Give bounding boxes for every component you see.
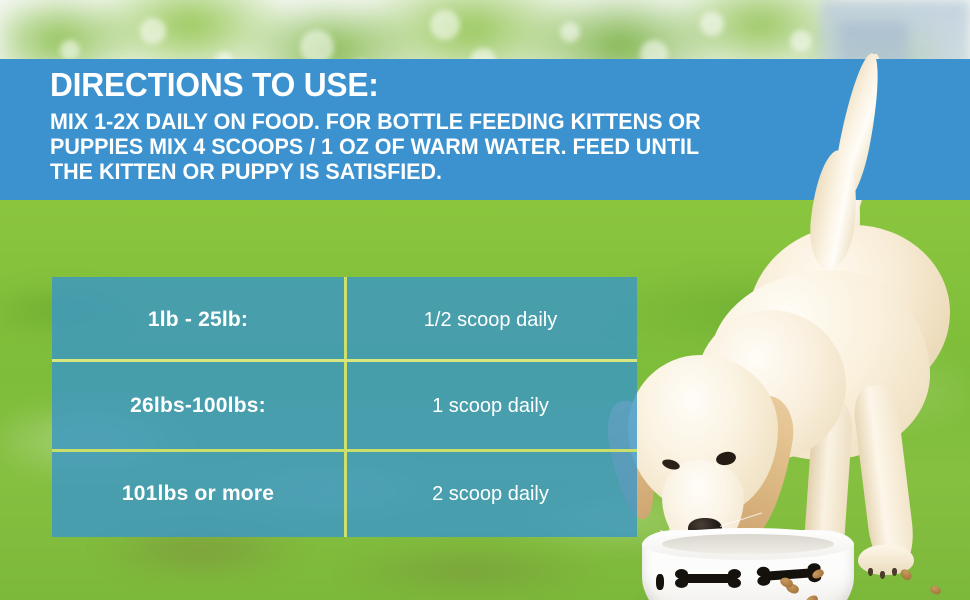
promo-banner-image: DIRECTIONS TO USE: MIX 1-2X DAILY ON FOO… [0, 0, 970, 600]
bokeh-dot [60, 40, 80, 60]
kibble-piece [929, 584, 942, 595]
bokeh-dot [700, 12, 724, 36]
bowl-rim-inner [662, 534, 834, 554]
bokeh-dot [560, 22, 580, 42]
puppy-claw [892, 568, 897, 576]
table-vertical-divider [344, 277, 347, 537]
table-horizontal-divider-2 [52, 449, 637, 452]
puppy-claw [868, 568, 873, 576]
banner-body-line-3: THE KITTEN OR PUPPY IS SATISFIED. [50, 159, 699, 184]
bone-icon [656, 574, 664, 590]
bokeh-dot [430, 10, 460, 40]
banner-body-text: MIX 1-2X DAILY ON FOOD. FOR BOTTLE FEEDI… [50, 109, 699, 184]
table-cell-dose-2: 1 scoop daily [344, 361, 637, 451]
puppy-claw [880, 571, 885, 579]
banner-body-line-2: PUPPIES MIX 4 SCOOPS / 1 OZ OF WARM WATE… [50, 134, 699, 159]
table-horizontal-divider-1 [52, 359, 637, 362]
bokeh-dot [140, 18, 166, 44]
table-cell-weight-1: 1lb - 25lb: [52, 278, 344, 362]
table-cell-dose-3: 2 scoop daily [344, 451, 637, 537]
table-cell-weight-2: 26lbs-100lbs: [52, 361, 344, 451]
table-cell-dose-1: 1/2 scoop daily [344, 278, 637, 362]
banner-body-line-1: MIX 1-2X DAILY ON FOOD. FOR BOTTLE FEEDI… [50, 109, 699, 134]
banner-headline: DIRECTIONS TO USE: [50, 68, 703, 103]
table-cell-weight-3: 101lbs or more [52, 451, 344, 537]
kibble-piece [899, 567, 914, 582]
dosage-table: 1lb - 25lb: 1/2 scoop daily 26lbs-100lbs… [52, 277, 637, 537]
bone-icon [682, 574, 734, 583]
